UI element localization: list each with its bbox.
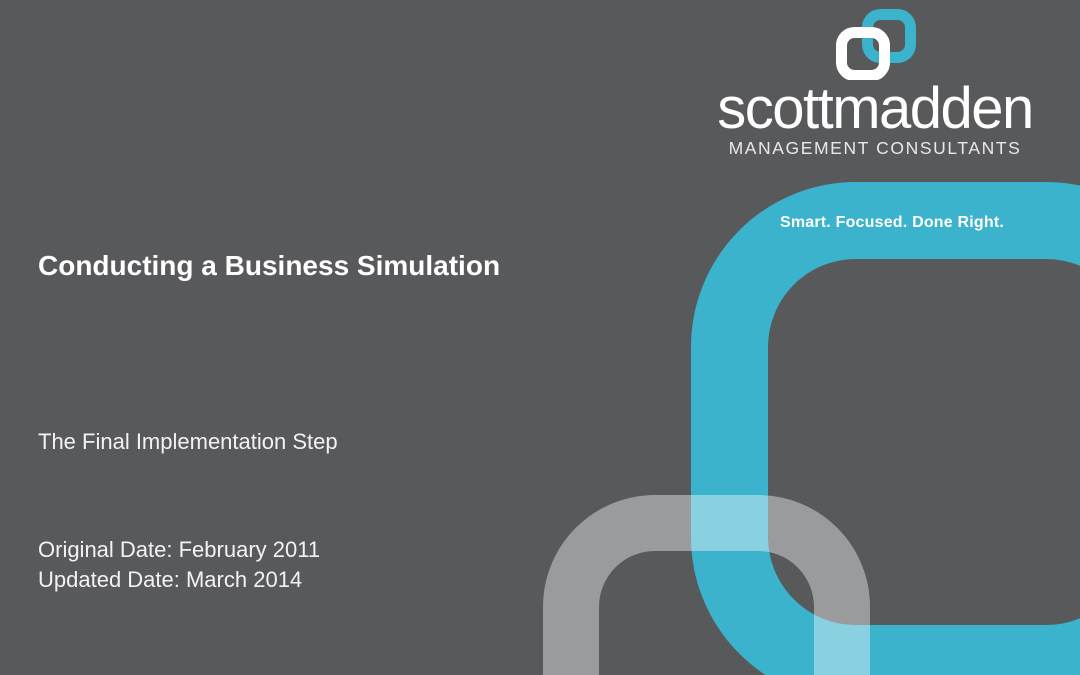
teal-rounded-square-graphic	[691, 182, 1080, 675]
title-slide: Smart. Focused. Done Right. scottmadden …	[0, 0, 1080, 675]
brand-tagline: Smart. Focused. Done Right.	[768, 214, 1016, 232]
logo-wordmark: scottmadden	[710, 82, 1040, 135]
page-title: Conducting a Business Simulation	[38, 250, 500, 282]
page-subtitle: The Final Implementation Step	[38, 429, 338, 455]
updated-date: Updated Date: March 2014	[38, 565, 320, 595]
logo-mark-icon	[832, 8, 918, 80]
company-logo: scottmadden MANAGEMENT CONSULTANTS	[710, 8, 1040, 159]
translucent-rounded-square-graphic	[543, 495, 870, 675]
original-date: Original Date: February 2011	[38, 535, 320, 565]
logo-subtext: MANAGEMENT CONSULTANTS	[710, 138, 1040, 159]
date-block: Original Date: February 2011 Updated Dat…	[38, 535, 320, 595]
